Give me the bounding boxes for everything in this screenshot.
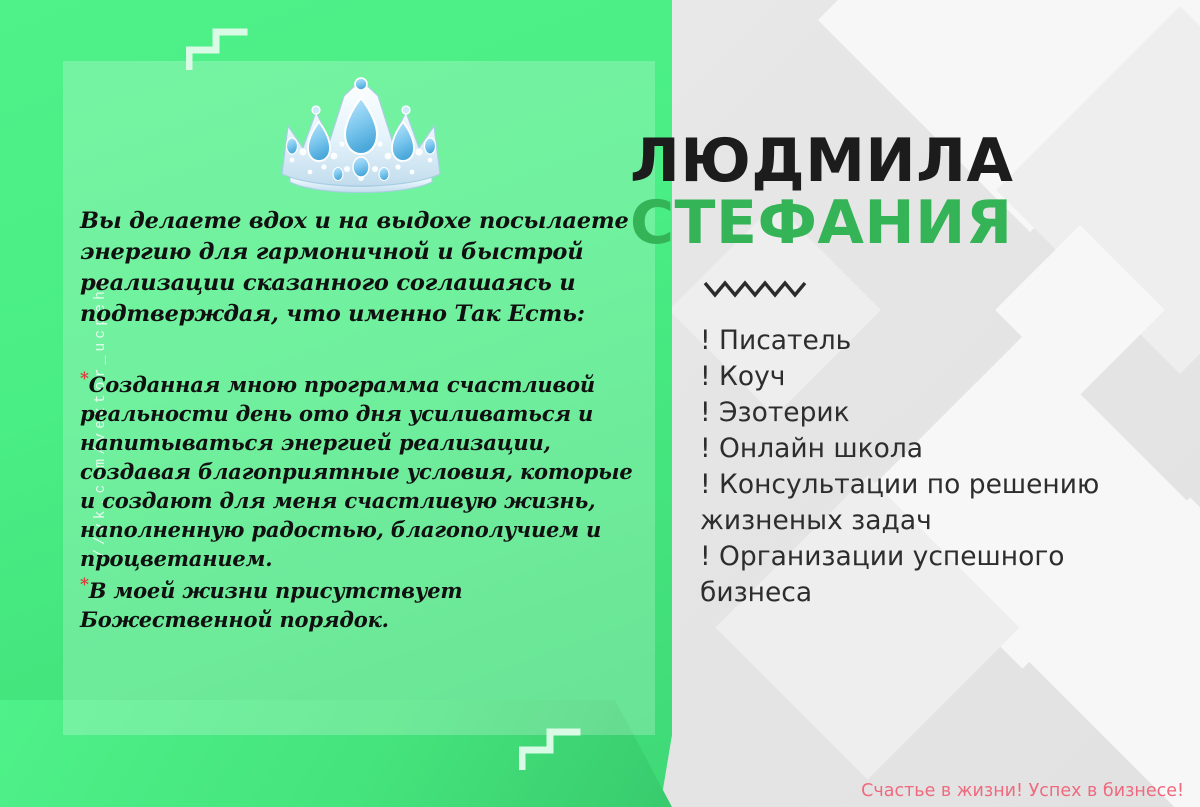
paragraph-spacer <box>80 330 640 368</box>
asterisk-marker-1: * <box>80 369 89 389</box>
staircase-decor-bottom-icon <box>519 726 581 770</box>
list-item: ! Писатель <box>700 323 1170 359</box>
poster-canvas: //vk.com/vektor_ucpeha <box>0 0 1200 807</box>
zigzag-divider-icon <box>703 277 807 301</box>
services-list: ! Писатель ! Коуч ! Эзотерик ! Онлайн шк… <box>700 323 1170 611</box>
affirmation-2-text: В моей жизни присутствует Божественной п… <box>80 578 462 632</box>
list-item: ! Эзотерик <box>700 395 1170 431</box>
profile-name: ЛЮДМИЛА СТЕФАНИЯ <box>630 130 1150 255</box>
intro-paragraph: Вы делаете вдох и на выдохе посылаете эн… <box>80 206 640 330</box>
affirmation-text-block: Вы делаете вдох и на выдохе посылаете эн… <box>80 206 640 635</box>
affirmation-paragraph-1: *Созданная мною программа счастливой реа… <box>80 368 640 574</box>
footer-tagline: Счастье в жизни! Успех в бизнесе! <box>861 781 1184 801</box>
list-item: ! Коуч <box>700 359 1170 395</box>
asterisk-marker-2: * <box>80 575 89 595</box>
list-item: ! Консультации по решению жизненых задач <box>700 467 1170 539</box>
last-name: СТЕФАНИЯ <box>630 192 1150 254</box>
first-name: ЛЮДМИЛА <box>630 130 1150 192</box>
affirmation-1-text: Созданная мною программа счастливой реал… <box>80 372 632 571</box>
crown-tiara-icon <box>272 74 450 196</box>
list-item: ! Онлайн школа <box>700 431 1170 467</box>
staircase-decor-top-icon <box>186 26 248 70</box>
list-item: ! Организации успешного бизнеса <box>700 539 1170 611</box>
affirmation-paragraph-2: *В моей жизни присутствует Божественной … <box>80 574 640 635</box>
